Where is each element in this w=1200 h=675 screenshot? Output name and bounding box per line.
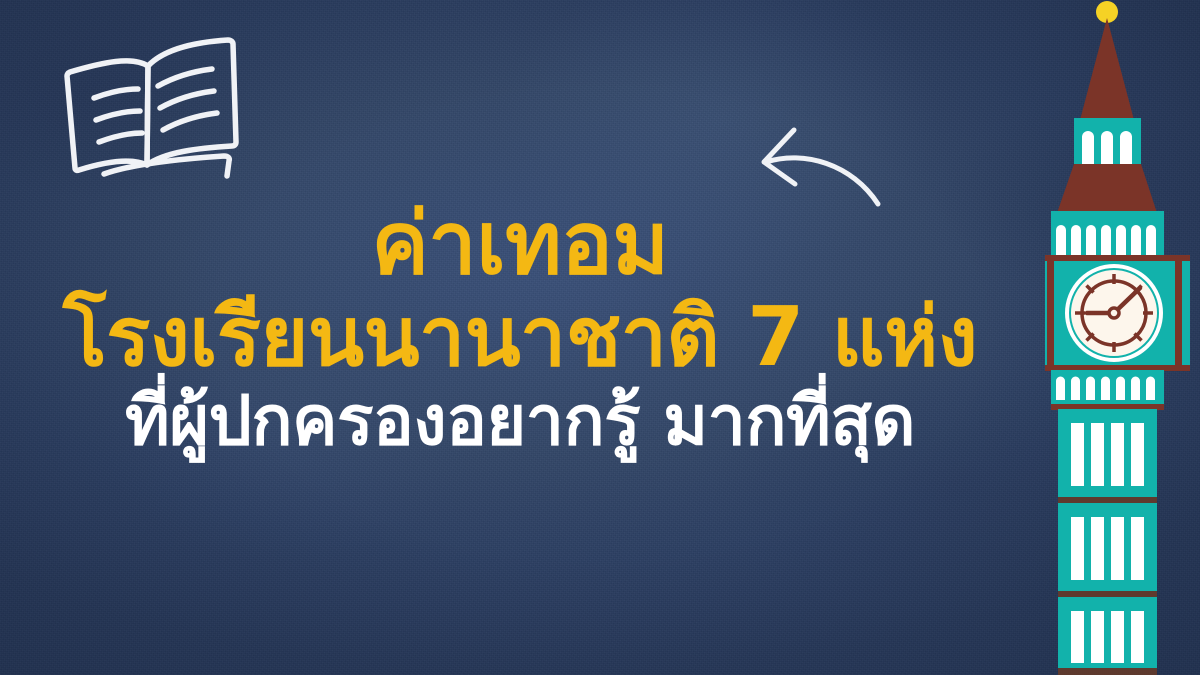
headline-line-1: ค่าเทอม xyxy=(371,201,668,289)
clock-center-pin xyxy=(1109,308,1119,318)
banner-canvas: ค่าเทอม โรงเรียนนานาชาติ 7 แห่ง ที่ผู้ปก… xyxy=(0,0,1200,675)
belfry-windows xyxy=(1082,131,1132,165)
clock-face xyxy=(1067,266,1161,360)
tower-upper-roof xyxy=(1057,164,1157,213)
clock-housing-right-rail xyxy=(1175,255,1182,371)
headline-line-3: ที่ผู้ปกครองอยากรู้ มากที่สุด xyxy=(125,385,915,458)
tower-shaft-divider-3 xyxy=(1058,668,1157,675)
clock-housing-left-rail xyxy=(1047,255,1054,371)
clock-housing-top-rail xyxy=(1045,255,1190,261)
tower-shaft-divider-1 xyxy=(1058,497,1157,503)
big-ben-tower-illustration xyxy=(1035,0,1200,675)
headline-block: ค่าเทอม โรงเรียนนานาชาติ 7 แห่ง ที่ผู้ปก… xyxy=(0,0,1040,675)
tower-spire xyxy=(1080,18,1134,120)
tower-shaft-divider-2 xyxy=(1058,591,1157,597)
headline-line-2: โรงเรียนนานาชาติ 7 แห่ง xyxy=(63,295,978,381)
